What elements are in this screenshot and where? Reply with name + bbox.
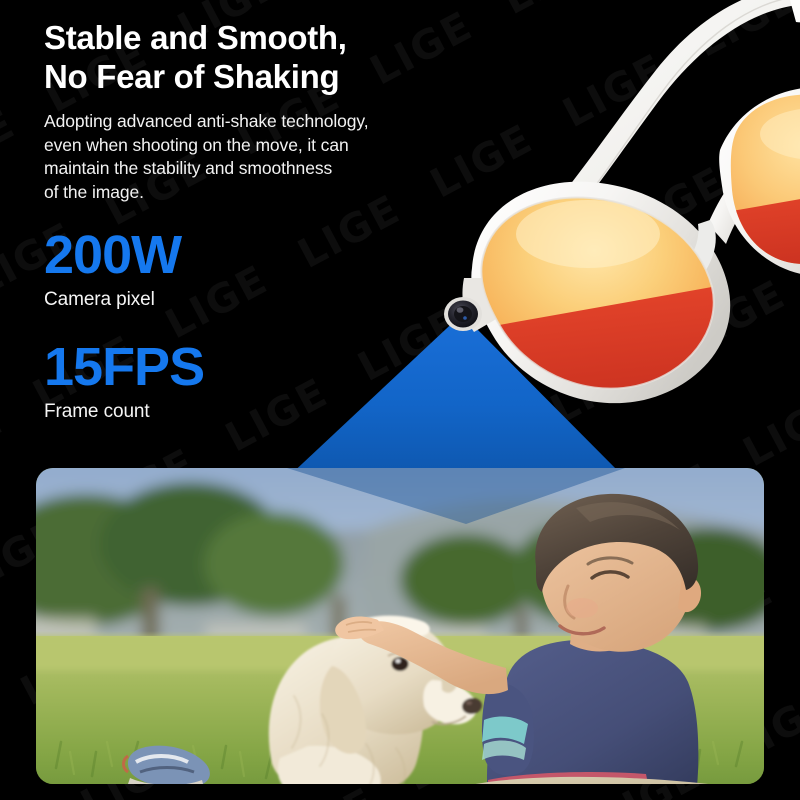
watermark-text: LIGE	[765, 738, 800, 800]
watermark-text: LIGE	[0, 0, 19, 116]
description-text: Adopting advanced anti-shake technology,…	[44, 110, 474, 206]
spec-camera-pixel-label: Camera pixel	[44, 289, 181, 311]
watermark-text: LIGE	[0, 229, 7, 412]
sample-photo-boy-and-puppy	[36, 468, 764, 784]
watermark-text: LIGE	[115, 794, 308, 800]
copy-block: Stable and Smooth, No Fear of Shaking Ad…	[44, 18, 474, 205]
spec-frame-count: 15FPS Frame count	[44, 340, 204, 423]
spec-camera-pixel-value: 200W	[44, 228, 181, 282]
smart-glasses-product-image	[420, 0, 800, 442]
glasses-camera-lens	[444, 297, 482, 331]
product-feature-banner: LIGELIGELIGELIGELIGELIGELIGELIGELIGELIGE…	[0, 0, 800, 800]
watermark-text: LIGE	[777, 442, 800, 625]
page-title: Stable and Smooth, No Fear of Shaking	[44, 18, 474, 97]
spec-camera-pixel: 200W Camera pixel	[44, 228, 181, 311]
spec-frame-count-label: Frame count	[44, 401, 204, 423]
spec-frame-count-value: 15FPS	[44, 340, 204, 394]
